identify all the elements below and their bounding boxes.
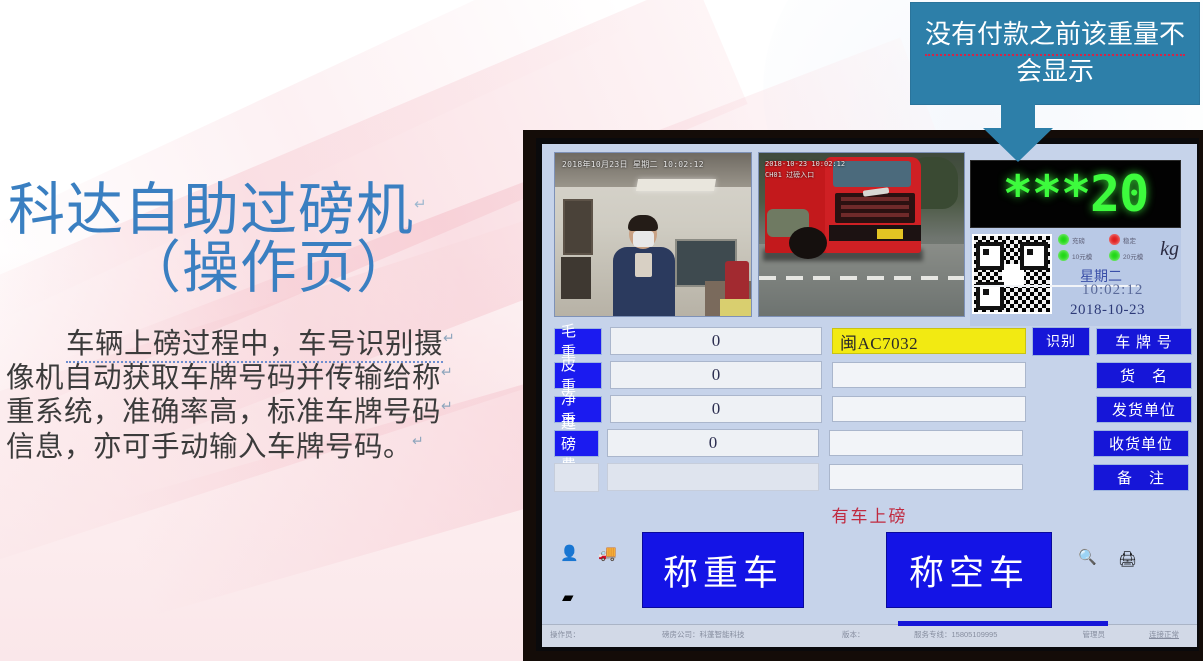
callout-line-1: 没有付款之前该重量不: [925, 19, 1185, 56]
led-dot-icon: [1058, 234, 1069, 245]
lane-marking: [759, 276, 964, 280]
label-tare-weight: 皮 重: [554, 362, 602, 389]
shipper-input[interactable]: [832, 396, 1026, 422]
arrow-stem: [1001, 100, 1035, 130]
person-mask: [633, 231, 654, 247]
form-row: 过磅费 0 收货单位: [554, 428, 1189, 458]
card-icon[interactable]: ▰: [562, 590, 574, 605]
statusbar-hotline: 服务专线：15805109995: [914, 629, 997, 640]
camera-timestamp: 2018年10月23日 星期二 10:02:12: [562, 159, 704, 170]
paragraph-mark: ↵: [441, 364, 453, 380]
body-paragraph: 车辆上磅过程中，车号识别摄↵ 像机自动获取车牌号码并传输给称↵ 重系统，准确率高…: [6, 328, 506, 465]
value-weighing-fee: 0: [607, 429, 819, 457]
value-gross-weight: 0: [610, 327, 822, 355]
label-remark: 备 注: [1093, 464, 1189, 491]
label-shipper-unit: 发货单位: [1096, 396, 1192, 423]
phone-icon: [635, 253, 652, 277]
weigh-loaded-button[interactable]: 称重车: [642, 532, 804, 608]
statusbar-company: 磅房公司：科蓬智能科技: [662, 629, 745, 640]
person-hair: [628, 215, 658, 231]
truck-icon[interactable]: 🚚: [598, 546, 617, 561]
label-consignee-unit: 收货单位: [1093, 430, 1189, 457]
page-title-line1: 科达自助过磅机: [8, 179, 414, 242]
paragraph-mark: ↵: [412, 432, 424, 448]
form-row: 净 重 0 发货单位: [554, 394, 1189, 424]
recognize-button[interactable]: 识别: [1032, 327, 1090, 356]
body-line-2: 像机自动获取车牌号码并传输给称↵: [6, 362, 506, 396]
truck-grille: [835, 193, 915, 223]
camera-osd-line1: 2018-10-23 10:02:12: [765, 159, 845, 170]
driver-camera-feed[interactable]: 2018年10月23日 星期二 10:02:12: [554, 152, 752, 317]
value-net-weight: 0: [610, 395, 822, 423]
statusbar-admin: 管理员: [1083, 629, 1106, 640]
ceiling-light: [636, 179, 716, 191]
statusbar-accent: [898, 621, 1108, 626]
empty-label-cell: [554, 463, 599, 492]
qr-code[interactable]: [972, 234, 1052, 314]
label-goods-name: 货 名: [1096, 362, 1192, 389]
led-dot-icon: [1058, 250, 1069, 261]
form-row: 毛 重 0 闽AC7032 识别 车 牌 号: [554, 326, 1189, 356]
paragraph-mark: ↵: [443, 330, 455, 346]
status-bar: 操作员： 磅房公司：科蓬智能科技 版本： 服务专线：15805109995 管理…: [542, 624, 1197, 647]
camera-osd-line2: CH01 过磅入口: [765, 170, 845, 181]
date-text: 2018-10-23: [1070, 302, 1145, 319]
led-weight-panel: ***20: [970, 160, 1181, 326]
weigh-empty-button[interactable]: 称空车: [886, 532, 1052, 608]
callout-text: 没有付款之前该重量不 会显示: [919, 19, 1191, 88]
monitor-bezel: 2018年10月23日 星期二 10:02:12: [536, 138, 1199, 651]
empty-value-cell: [607, 463, 819, 491]
yellow-object: [720, 299, 752, 317]
qr-finder: [976, 242, 1004, 270]
statusbar-operator: 操作员：: [550, 629, 580, 640]
weight-value: ***20: [1003, 169, 1149, 219]
label-weighing-fee: 过磅费: [554, 430, 599, 457]
indicator-label: 10元模: [1072, 251, 1092, 261]
statusbar-connection[interactable]: 连接正常: [1149, 629, 1179, 640]
indicator-row: 充磅 稳定: [1058, 234, 1151, 245]
truck-camera-feed[interactable]: 2018-10-23 10:02:12 CH01 过磅入口: [758, 152, 965, 317]
print-icon[interactable]: 🖨: [1118, 552, 1137, 567]
weight-unit: kg: [1160, 238, 1179, 261]
search-icon[interactable]: 🔍: [1078, 550, 1097, 565]
status-indicators: 充磅 稳定 10元模: [1058, 234, 1151, 266]
clock-text: 10:02:12: [1082, 282, 1143, 299]
page-title-line2: （操作页）: [8, 240, 508, 298]
label-gross-weight: 毛 重: [554, 328, 602, 355]
status-indicator: 稳定: [1109, 234, 1151, 245]
slide-text-column: 科达自助过磅机↵ （操作页） 车辆上磅过程中，车号识别摄↵ 像机自动获取车牌号码…: [0, 0, 520, 661]
plate-value: 闽AC7032: [840, 329, 918, 354]
statusbar-version: 版本：: [842, 629, 865, 640]
monitor-photo: 2018年10月23日 星期二 10:02:12: [523, 130, 1203, 661]
weighbridge-app-screen: 2018年10月23日 星期二 10:02:12: [542, 144, 1197, 647]
status-indicator: 20元模: [1109, 250, 1151, 261]
led-meta-panel: 充磅 稳定 10元模: [970, 228, 1181, 326]
body-line-4: 信息，亦可手动输入车牌号码。↵: [6, 431, 506, 465]
indicator-label: 稳定: [1123, 235, 1136, 245]
paragraph-mark: ↵: [441, 398, 453, 414]
indicator-label: 20元模: [1123, 251, 1143, 261]
body-line-1: 车辆上磅过程中，车号识别摄↵: [6, 328, 506, 362]
form-row: 备 注: [554, 462, 1189, 492]
weighing-form: 毛 重 0 闽AC7032 识别 车 牌 号 皮 重 0 货 名 净 重: [554, 326, 1189, 486]
operator-icon[interactable]: 👤: [560, 546, 579, 561]
value-tare-weight: 0: [610, 361, 822, 389]
arrow-head: [983, 128, 1053, 162]
goods-name-input[interactable]: [832, 362, 1026, 388]
paragraph-mark: ↵: [414, 196, 428, 213]
label-plate-number: 车 牌 号: [1096, 328, 1192, 355]
body-line-3: 重系统，准确率高，标准车牌号码↵: [6, 396, 506, 430]
callout-line-2: 会显示: [925, 56, 1185, 89]
truck-wheel: [789, 227, 827, 259]
wall-frame: [563, 199, 593, 255]
indicator-row: 10元模 20元模: [1058, 250, 1151, 261]
truck-license-plate: [877, 229, 903, 239]
wall-frame: [561, 257, 591, 299]
status-indicator: 10元模: [1058, 250, 1100, 261]
action-button-area: 👤 🚚 ▰ 称重车 称空车 🔍 🖨: [542, 532, 1197, 618]
camera-row: 2018年10月23日 星期二 10:02:12: [554, 152, 1189, 317]
status-message: 有车上磅: [542, 502, 1197, 527]
form-row: 皮 重 0 货 名: [554, 360, 1189, 390]
callout-box: 没有付款之前该重量不 会显示: [910, 2, 1200, 105]
camera-osd: 2018-10-23 10:02:12 CH01 过磅入口: [765, 159, 845, 180]
remark-input[interactable]: [829, 464, 1023, 490]
indicator-label: 充磅: [1072, 235, 1085, 245]
page-title: 科达自助过磅机↵ （操作页）: [8, 182, 508, 298]
status-indicator: 充磅: [1058, 234, 1100, 245]
led-display: ***20: [970, 160, 1181, 228]
led-dot-icon: [1109, 234, 1120, 245]
led-dot-icon: [1109, 250, 1120, 261]
consignee-input[interactable]: [829, 430, 1023, 456]
qr-finder: [1020, 242, 1048, 270]
plate-input[interactable]: 闽AC7032: [832, 328, 1026, 354]
truck-bumper: [829, 225, 921, 241]
